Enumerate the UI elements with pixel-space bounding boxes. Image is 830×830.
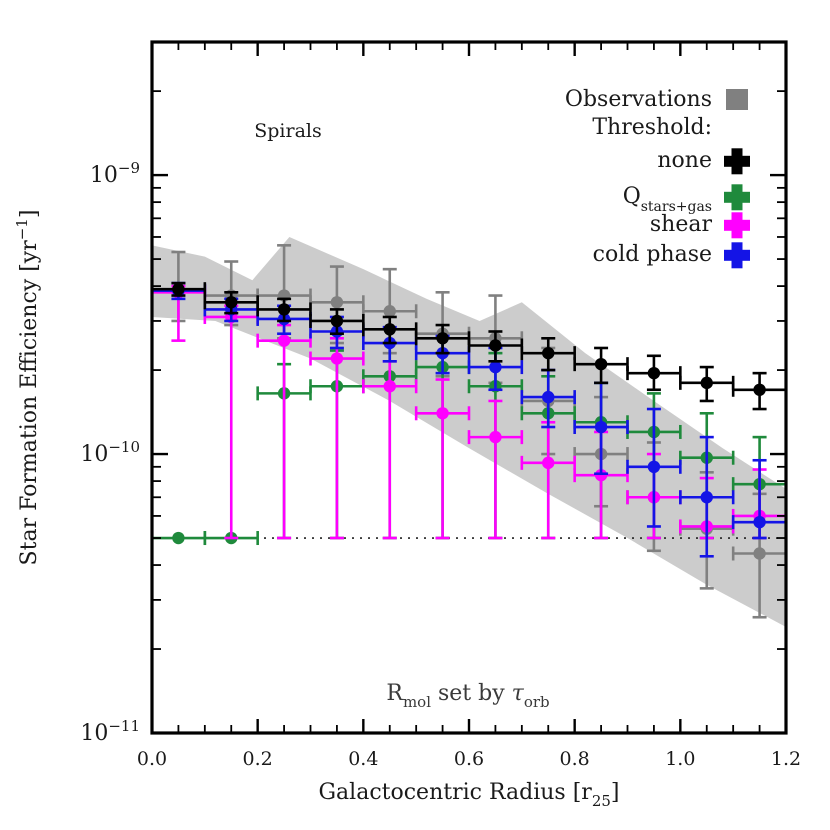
legend-entry[interactable]: none <box>657 148 750 174</box>
data-marker[interactable] <box>384 323 396 335</box>
data-marker[interactable] <box>701 377 713 389</box>
plot-annotation: Rmol set by τorb <box>386 681 549 711</box>
data-marker[interactable] <box>278 303 290 315</box>
y-tick-mantissa: 10 <box>80 442 108 467</box>
annot-tau: τ <box>512 681 525 706</box>
data-marker[interactable] <box>331 296 343 308</box>
data-point[interactable] <box>205 306 258 538</box>
x-tick-label: 1.2 <box>771 748 801 770</box>
legend-label: Threshold: <box>592 115 712 140</box>
chart-canvas: 0.00.20.40.60.81.01.210−910−1010−11Galac… <box>0 0 830 830</box>
y-axis-label-main: Star Formation Efficiency [yr <box>17 240 42 566</box>
y-tick-exponent: −10 <box>108 438 140 456</box>
annot-tau-sub: orb <box>524 693 550 711</box>
y-tick-label: 10−9 <box>90 159 140 188</box>
legend-label: cold phase <box>593 242 712 267</box>
data-marker[interactable] <box>542 391 554 403</box>
y-tick-exponent: −9 <box>118 159 140 177</box>
x-tick-label: 0.0 <box>137 748 167 770</box>
legend-swatch-plus-v <box>732 242 743 268</box>
data-marker[interactable] <box>172 532 184 544</box>
y-tick-label: 10−10 <box>80 438 140 467</box>
legend-label-main: Threshold: <box>592 115 712 140</box>
figure-root: 0.00.20.40.60.81.01.210−910−1010−11Galac… <box>0 0 830 830</box>
legend-entry[interactable]: shear <box>650 212 750 238</box>
y-tick-mantissa: 10 <box>80 721 108 746</box>
data-marker[interactable] <box>753 547 765 559</box>
data-marker[interactable] <box>701 491 713 503</box>
data-marker[interactable] <box>331 352 343 364</box>
legend-entry[interactable]: cold phase <box>593 242 750 268</box>
data-marker[interactable] <box>384 380 396 392</box>
data-marker[interactable] <box>489 361 501 373</box>
x-axis-label-sub: 25 <box>592 792 611 810</box>
data-marker[interactable] <box>489 431 501 443</box>
x-tick-label: 0.2 <box>243 748 273 770</box>
data-point[interactable] <box>680 367 733 401</box>
data-marker[interactable] <box>278 334 290 346</box>
legend-label: Qstars+gas <box>623 184 712 215</box>
data-marker[interactable] <box>489 339 501 351</box>
data-marker[interactable] <box>648 461 660 473</box>
legend-swatch-plus-v <box>732 212 743 238</box>
legend-swatch-square <box>726 89 748 110</box>
x-tick-label: 0.6 <box>454 748 484 770</box>
data-marker[interactable] <box>384 305 396 317</box>
data-point[interactable] <box>258 325 311 538</box>
y-axis-label: Star Formation Efficiency [yr−1] <box>13 210 42 566</box>
legend-label-main: none <box>657 148 712 173</box>
data-point[interactable] <box>733 373 786 409</box>
legend-entry[interactable]: Observations <box>565 87 748 112</box>
y-axis-label-close: ] <box>17 210 42 219</box>
data-marker[interactable] <box>753 384 765 396</box>
data-marker[interactable] <box>172 283 184 295</box>
y-axis-label-sup: −1 <box>13 218 31 240</box>
legend-label-main: cold phase <box>593 242 712 267</box>
data-marker[interactable] <box>753 516 765 528</box>
x-axis-label: Galactocentric Radius [r25] <box>318 780 619 810</box>
data-marker[interactable] <box>595 421 607 433</box>
legend-label-main: Observations <box>565 87 712 112</box>
legend-label-main: Q <box>623 184 641 209</box>
page-title: Spirals <box>254 120 322 142</box>
legend-entry[interactable]: Threshold: <box>592 115 712 140</box>
data-marker[interactable] <box>595 358 607 370</box>
legend-entry[interactable]: Qstars+gas <box>623 184 750 215</box>
annot-setby: set by <box>431 681 512 706</box>
y-tick-label: 10−11 <box>80 717 140 746</box>
data-point[interactable] <box>628 356 681 390</box>
legend-swatch-plus-v <box>732 184 743 210</box>
x-tick-label: 1.0 <box>665 748 695 770</box>
legend: ObservationsThreshold:noneQstars+gasshea… <box>565 87 750 268</box>
data-marker[interactable] <box>225 296 237 308</box>
data-marker[interactable] <box>542 457 554 469</box>
x-tick-label: 0.4 <box>348 748 378 770</box>
data-marker[interactable] <box>542 347 554 359</box>
annot-rmol-sub: mol <box>403 693 431 711</box>
legend-label: shear <box>650 212 713 237</box>
y-tick-mantissa: 10 <box>90 163 118 188</box>
data-marker[interactable] <box>331 315 343 327</box>
legend-label: none <box>657 148 712 173</box>
legend-swatch-plus-v <box>732 148 743 174</box>
legend-label: Observations <box>565 87 712 112</box>
x-axis-label-close: ] <box>611 780 620 805</box>
data-marker[interactable] <box>648 367 660 379</box>
x-axis-label-main: Galactocentric Radius [r <box>318 780 592 805</box>
legend-label-main: shear <box>650 212 713 237</box>
annot-rmol: R <box>386 681 404 706</box>
y-tick-exponent: −11 <box>108 717 140 735</box>
data-marker[interactable] <box>436 407 448 419</box>
data-marker[interactable] <box>436 332 448 344</box>
x-tick-label: 0.8 <box>560 748 590 770</box>
